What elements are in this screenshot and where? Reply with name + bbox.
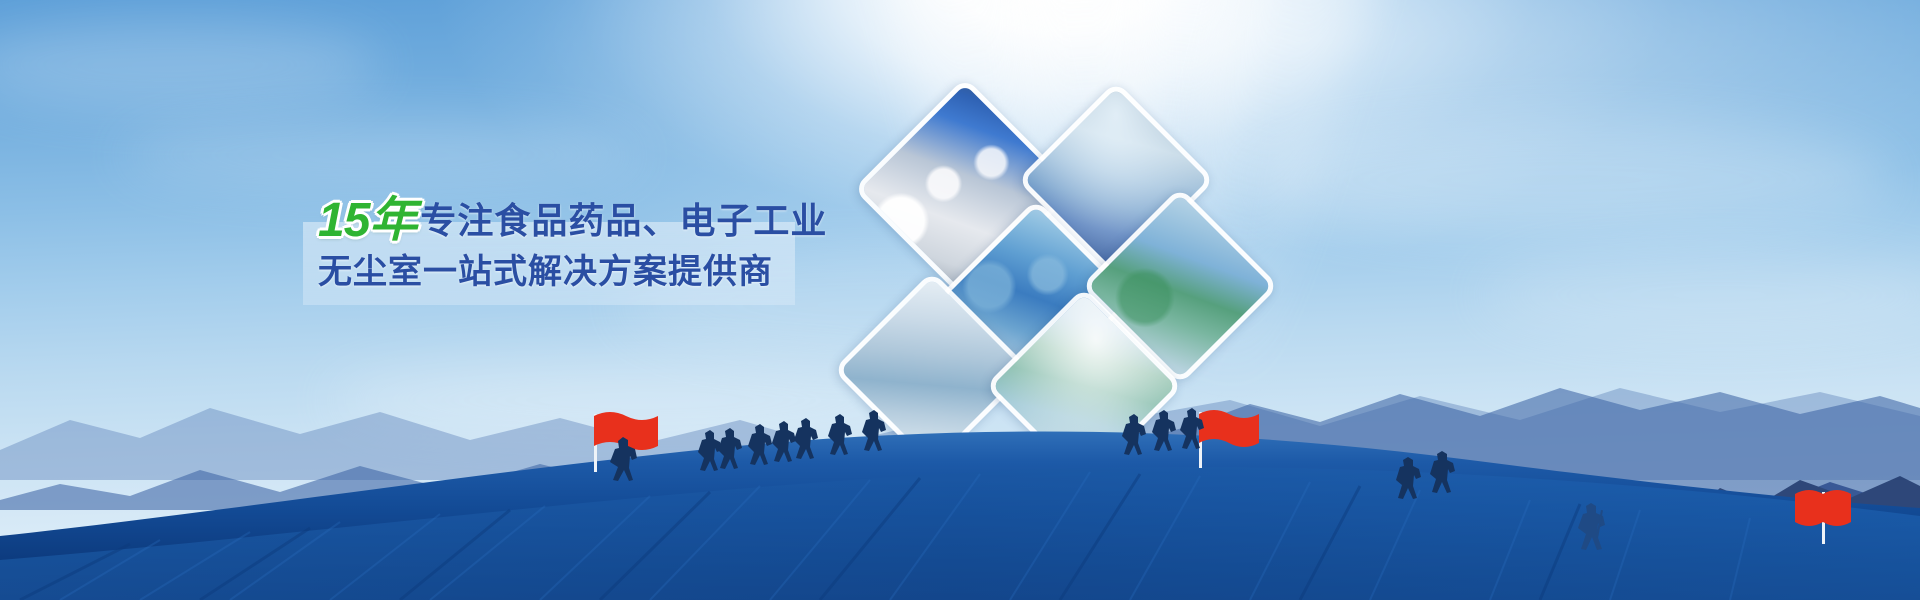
cloud-wisp	[1250, 120, 1890, 240]
climber-silhouette-icon	[1578, 503, 1605, 550]
headline-line-2: 无尘室一站式解决方案提供商	[318, 255, 788, 289]
red-flag-icon	[1199, 410, 1259, 468]
hero-banner: 15年专注食品药品、电子工业 无尘室一站式解决方案提供商	[0, 0, 1920, 600]
headline-line-2-text: 无尘室一站式解决方案提供商	[318, 253, 773, 291]
headline-line-1: 15年专注食品药品、电子工业	[318, 197, 788, 245]
cloud-wisp	[120, 120, 640, 190]
headline-block: 15年专注食品药品、电子工业 无尘室一站式解决方案提供商	[318, 197, 788, 289]
climber-silhouette-icon	[610, 408, 1455, 499]
headline-line-1-rest: 专注食品药品、电子工业	[420, 200, 827, 241]
climbers-and-flags-layer	[0, 340, 1920, 600]
years-badge: 15年	[318, 194, 420, 247]
red-flag-icon	[1795, 490, 1851, 544]
